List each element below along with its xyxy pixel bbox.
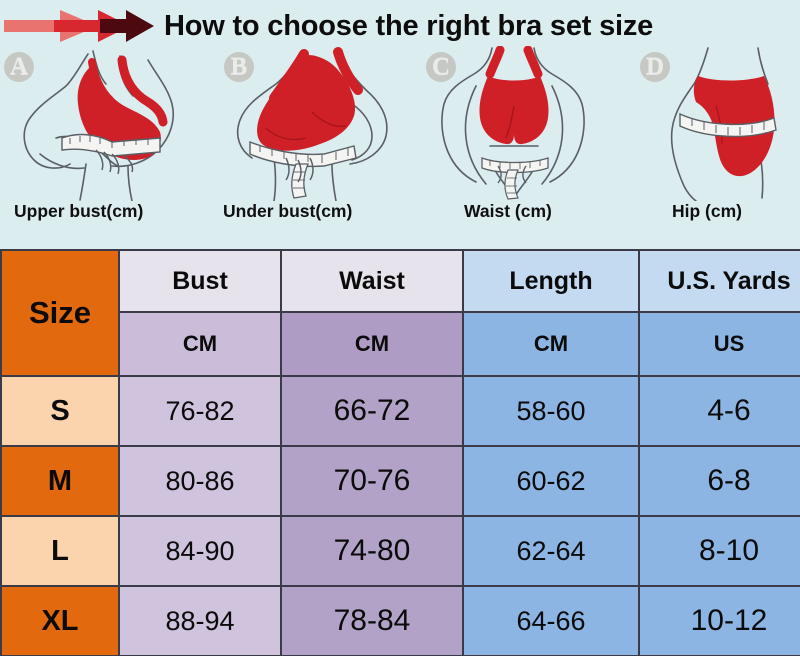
size-table-wrap: Size Bust Waist Length U.S. Yards CM CM … [0, 249, 800, 656]
unit-us: US [639, 312, 800, 376]
table-row: L 84-90 74-80 62-64 8-10 [1, 516, 800, 586]
cell-bust-xl: 88-94 [119, 586, 281, 656]
header-waist: Waist [281, 250, 463, 312]
cell-size-l: L [1, 516, 119, 586]
size-chart-page: How to choose the right bra set size [0, 0, 800, 656]
figure-strip: A [0, 46, 800, 201]
unit-waist: CM [281, 312, 463, 376]
cell-length-xl: 64-66 [463, 586, 639, 656]
cell-bust-m: 80-86 [119, 446, 281, 516]
cell-waist-m: 70-76 [281, 446, 463, 516]
figure-upper-bust: A [0, 46, 222, 201]
cell-waist-s: 66-72 [281, 376, 463, 446]
caption-under-bust: Under bust(cm) [223, 201, 352, 222]
cell-size-s: S [1, 376, 119, 446]
cell-size-m: M [1, 446, 119, 516]
header-size: Size [1, 250, 119, 376]
cell-waist-xl: 78-84 [281, 586, 463, 656]
table-row: XL 88-94 78-84 64-66 10-12 [1, 586, 800, 656]
table-row: M 80-86 70-76 60-62 6-8 [1, 446, 800, 516]
figure-badge-b: B [224, 52, 254, 82]
title-row: How to choose the right bra set size [0, 0, 800, 52]
figure-hip: D [618, 46, 800, 201]
size-table: Size Bust Waist Length U.S. Yards CM CM … [0, 249, 800, 656]
page-title: How to choose the right bra set size [164, 10, 653, 43]
figure-badge-c: C [426, 52, 456, 82]
cell-length-m: 60-62 [463, 446, 639, 516]
header-length: Length [463, 250, 639, 312]
figure-under-bust: B [214, 46, 420, 201]
caption-upper-bust: Upper bust(cm) [14, 201, 143, 222]
header-us-yards: U.S. Yards [639, 250, 800, 312]
cell-waist-l: 74-80 [281, 516, 463, 586]
unit-length: CM [463, 312, 639, 376]
cell-bust-l: 84-90 [119, 516, 281, 586]
table-row: S 76-82 66-72 58-60 4-6 [1, 376, 800, 446]
caption-waist: Waist (cm) [464, 201, 552, 222]
unit-bust: CM [119, 312, 281, 376]
cell-us-xl: 10-12 [639, 586, 800, 656]
cell-length-l: 62-64 [463, 516, 639, 586]
cell-us-l: 8-10 [639, 516, 800, 586]
header-bust: Bust [119, 250, 281, 312]
table-header-row-units: CM CM CM US [1, 312, 800, 376]
triple-arrow-right-icon [4, 4, 164, 48]
cell-size-xl: XL [1, 586, 119, 656]
cell-length-s: 58-60 [463, 376, 639, 446]
cell-us-m: 6-8 [639, 446, 800, 516]
cell-us-s: 4-6 [639, 376, 800, 446]
cell-bust-s: 76-82 [119, 376, 281, 446]
figure-badge-d: D [640, 52, 670, 82]
figure-captions: Upper bust(cm) Under bust(cm) Waist (cm)… [0, 201, 800, 241]
figure-badge-a: A [4, 52, 34, 82]
table-header-row-groups: Size Bust Waist Length U.S. Yards [1, 250, 800, 312]
caption-hip: Hip (cm) [672, 201, 742, 222]
figure-waist: C [418, 46, 614, 201]
measurement-guide-panel: How to choose the right bra set size [0, 0, 800, 249]
